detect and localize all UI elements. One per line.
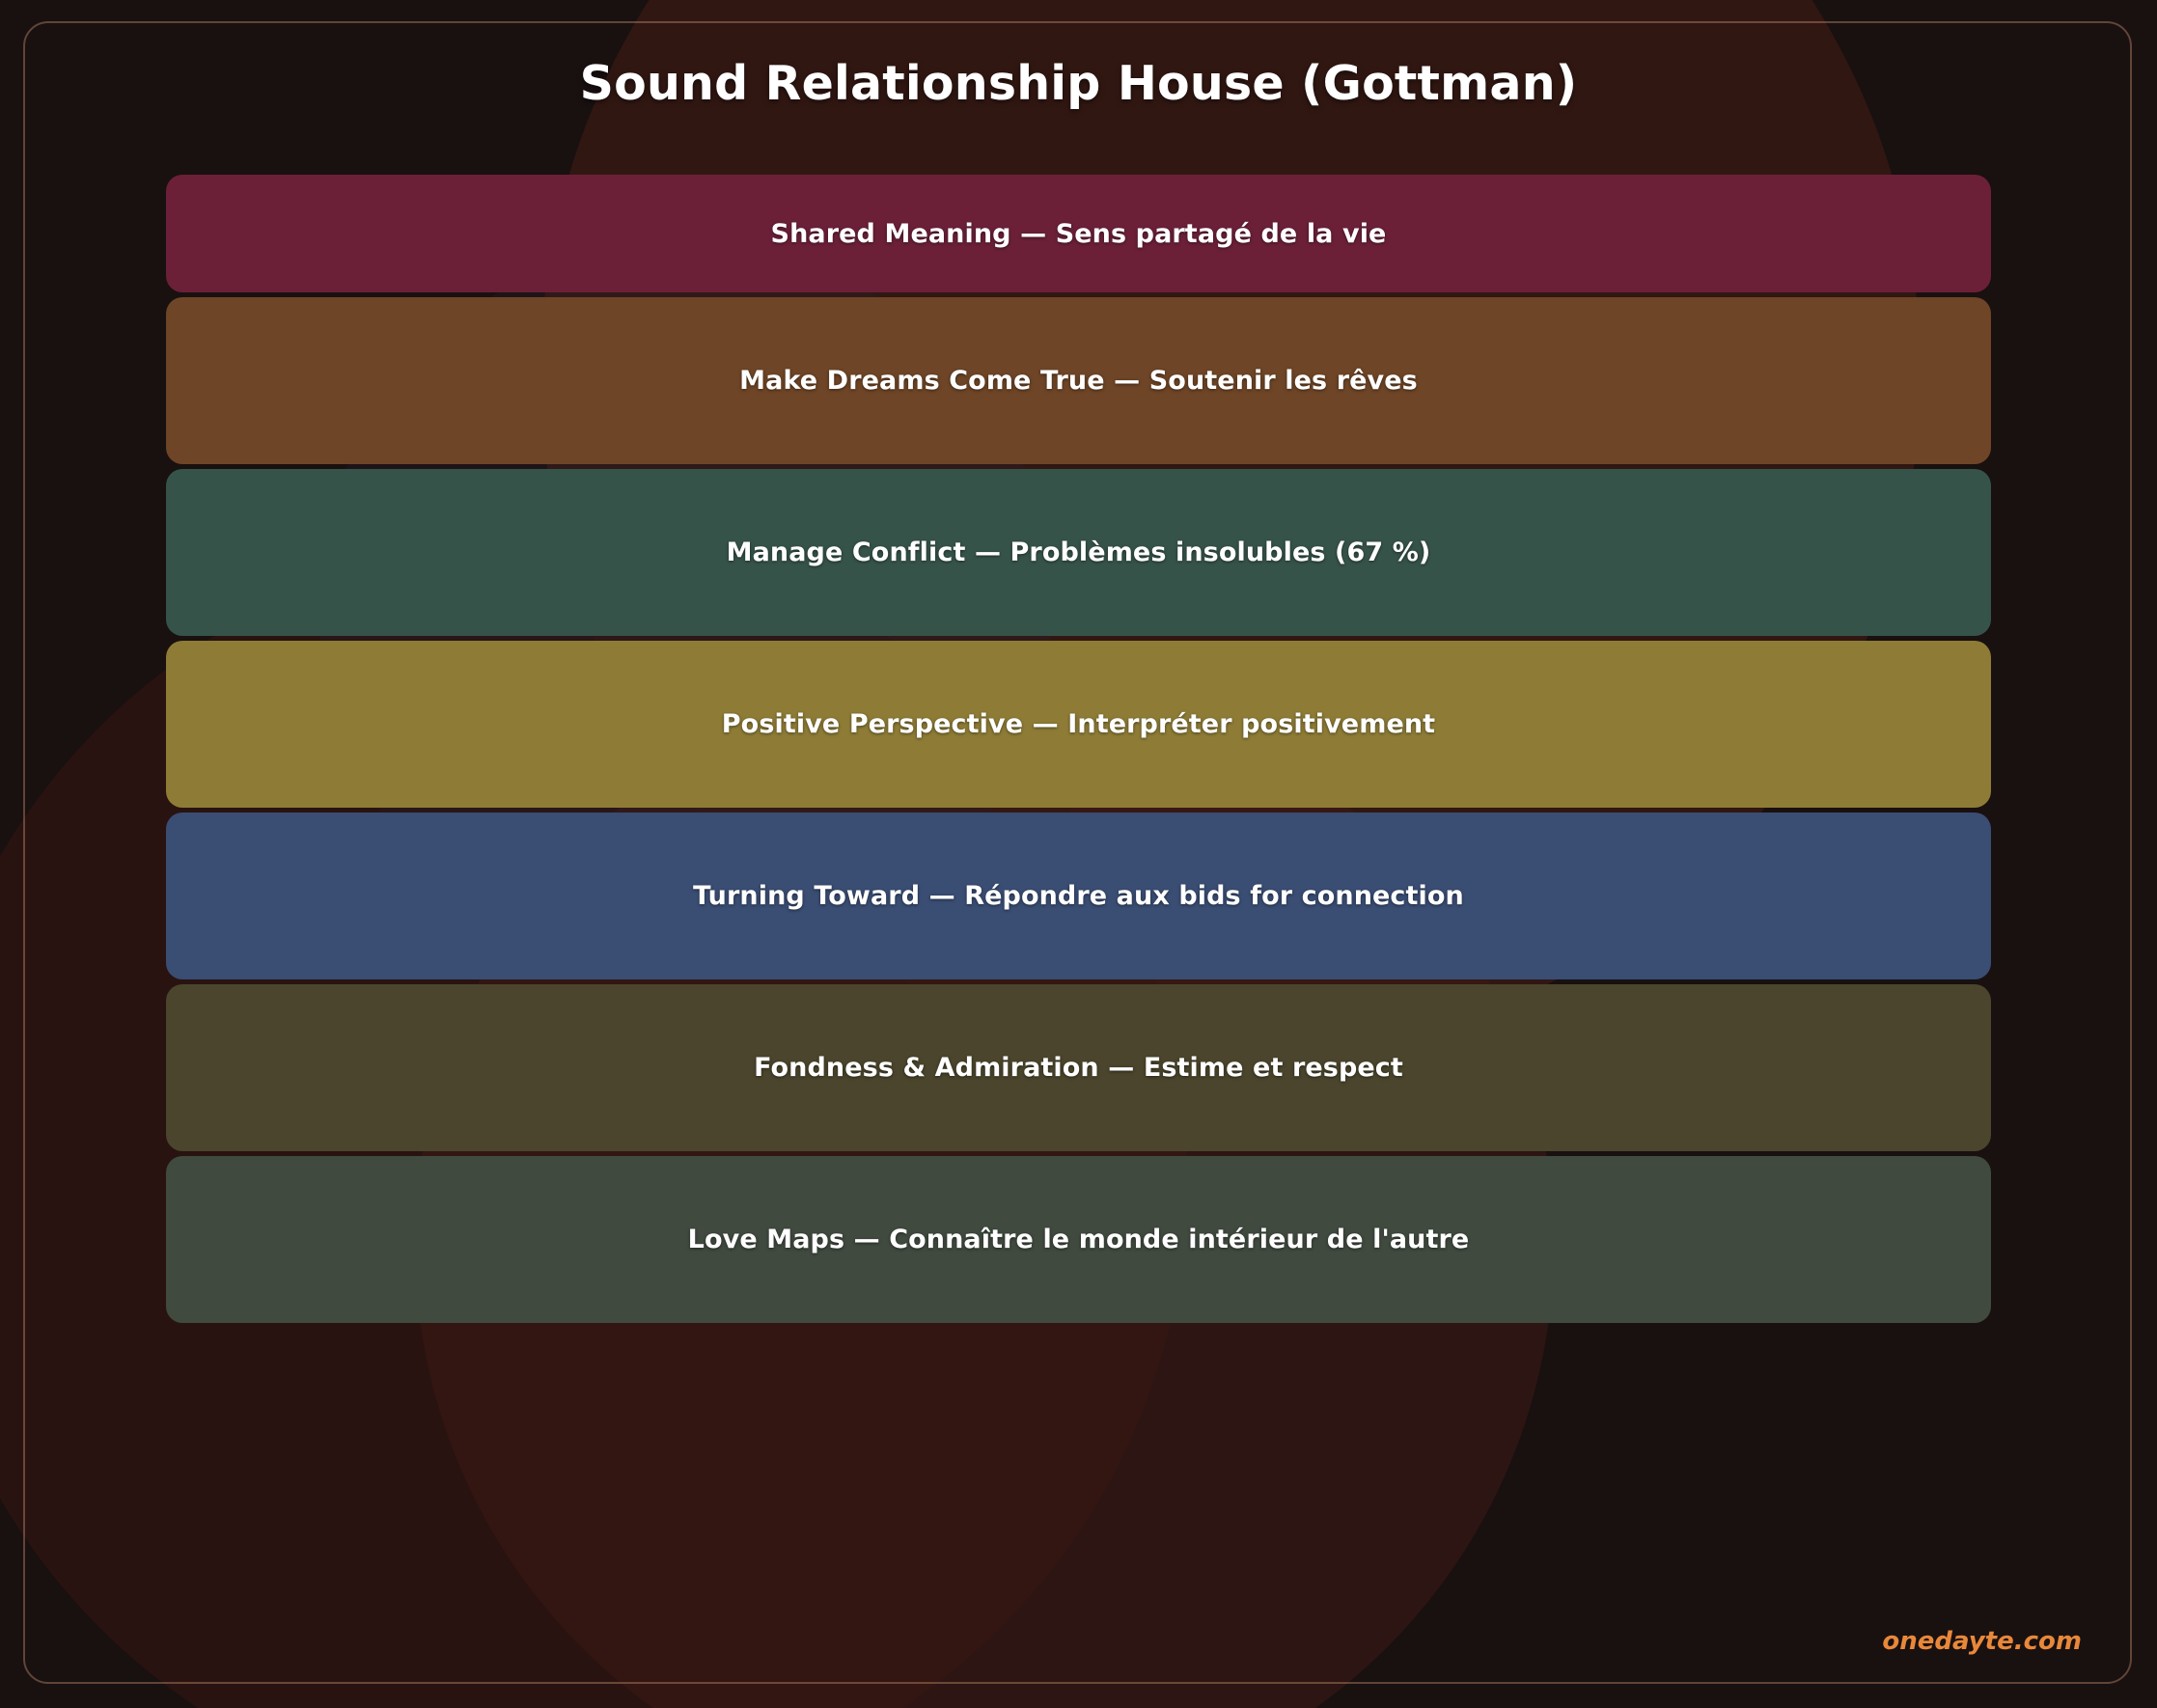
level-bar[interactable]: Manage Conflict — Problèmes insolubles (… xyxy=(166,469,1991,636)
watermark: onedayte.com xyxy=(1882,1627,2082,1656)
infographic-canvas: Sound Relationship House (Gottman) Share… xyxy=(0,0,2157,1708)
level-bar-label: Fondness & Admiration — Estime et respec… xyxy=(754,1053,1403,1083)
level-bar[interactable]: Make Dreams Come True — Soutenir les rêv… xyxy=(166,297,1991,464)
level-bar[interactable]: Shared Meaning — Sens partagé de la vie xyxy=(166,175,1991,292)
level-bar[interactable]: Positive Perspective — Interpréter posit… xyxy=(166,641,1991,808)
relationship-house-levels: Shared Meaning — Sens partagé de la vieM… xyxy=(166,175,1991,1328)
level-bar-label: Positive Perspective — Interpréter posit… xyxy=(722,709,1435,739)
level-bar-label: Manage Conflict — Problèmes insolubles (… xyxy=(727,537,1431,567)
level-bar[interactable]: Love Maps — Connaître le monde intérieur… xyxy=(166,1156,1991,1323)
level-bar[interactable]: Turning Toward — Répondre aux bids for c… xyxy=(166,813,1991,979)
level-bar[interactable]: Fondness & Admiration — Estime et respec… xyxy=(166,984,1991,1151)
level-bar-label: Turning Toward — Répondre aux bids for c… xyxy=(693,881,1464,911)
level-bar-label: Love Maps — Connaître le monde intérieur… xyxy=(688,1225,1470,1254)
page-title: Sound Relationship House (Gottman) xyxy=(0,56,2157,111)
level-bar-label: Make Dreams Come True — Soutenir les rêv… xyxy=(739,366,1418,396)
level-bar-label: Shared Meaning — Sens partagé de la vie xyxy=(771,219,1387,249)
